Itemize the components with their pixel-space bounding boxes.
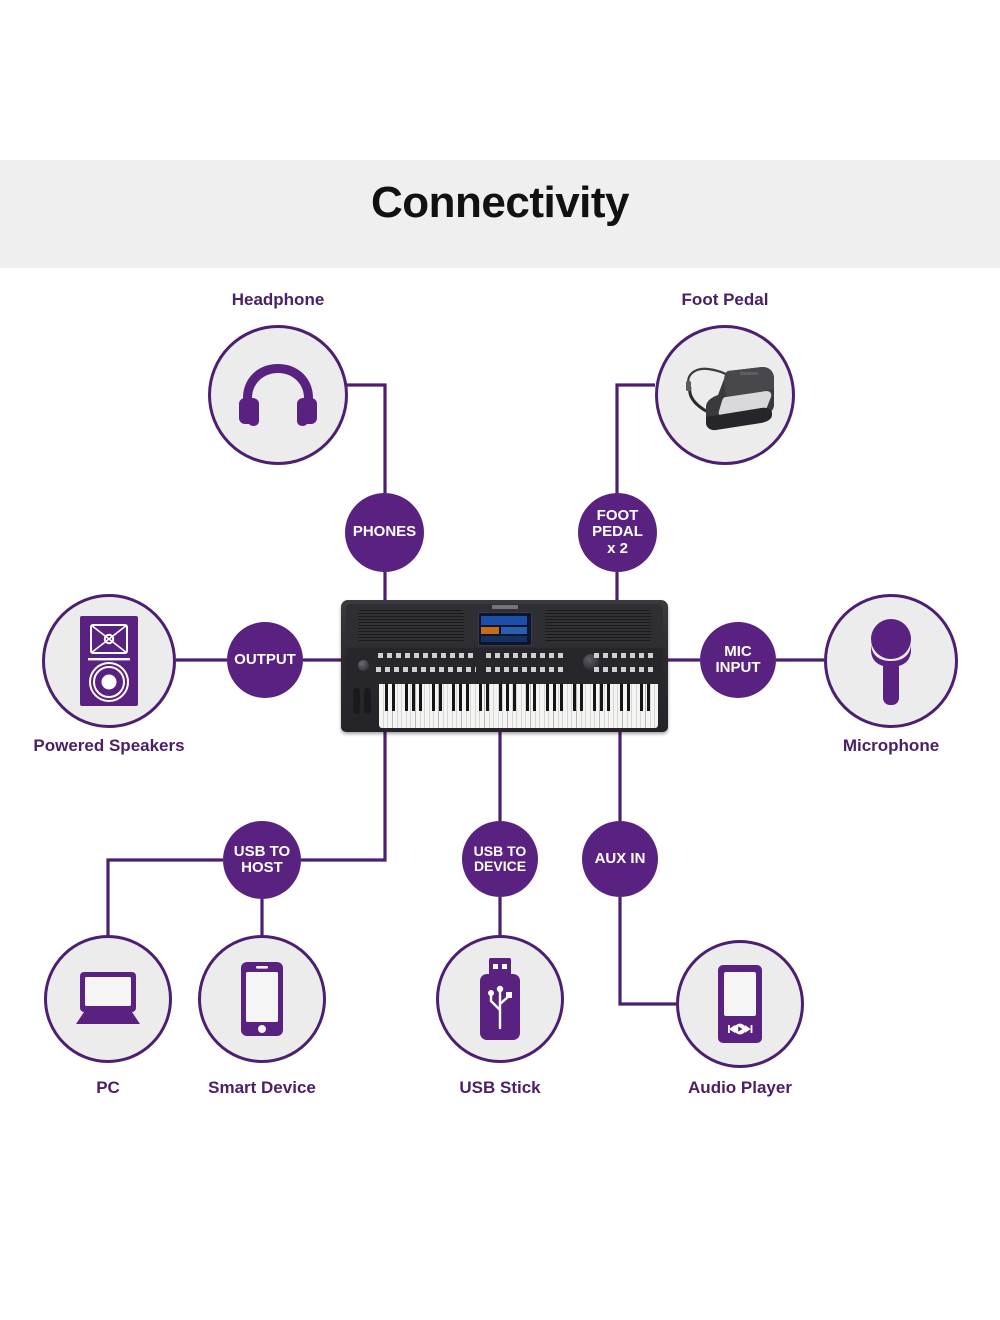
volume-knob[interactable] (358, 660, 369, 671)
port-phones[interactable]: PHONES (345, 493, 424, 572)
button-row-lower-left[interactable] (376, 667, 476, 672)
device-pc[interactable] (44, 935, 172, 1063)
device-label-audio-player: Audio Player (640, 1078, 840, 1098)
device-headphone[interactable] (208, 325, 348, 465)
keyboard-top-panel (346, 604, 663, 646)
device-microphone[interactable] (824, 594, 958, 728)
foot-pedal-icon (666, 345, 784, 445)
device-label-microphone: Microphone (791, 736, 991, 756)
port-label-aux-in: AUX IN (593, 851, 648, 867)
device-label-foot-pedal: Foot Pedal (625, 290, 825, 310)
black-keys (379, 684, 658, 711)
port-label-foot-pedal-l2: PEDAL (590, 524, 645, 540)
device-label-headphone: Headphone (178, 290, 378, 310)
wire-auxin-audioplayer (620, 897, 676, 1004)
pitch-mod-wheels[interactable] (353, 688, 373, 714)
connectivity-diagram: Connectivity (0, 0, 1000, 1320)
device-label-smart-device: Smart Device (162, 1078, 362, 1098)
digital-keyboard[interactable] (341, 600, 668, 732)
port-label-output: OUTPUT (232, 652, 298, 668)
port-label-usb-host-l1: USB TO (232, 844, 292, 860)
device-usb-stick[interactable] (436, 935, 564, 1063)
port-label-foot-pedal-l3: x 2 (605, 541, 630, 557)
device-label-usb-stick: USB Stick (400, 1078, 600, 1098)
port-foot-pedal[interactable]: FOOT PEDAL x 2 (578, 493, 657, 572)
wire-headphone-phones (347, 385, 385, 493)
audio-player-icon (716, 963, 764, 1045)
port-label-usb-host-l2: HOST (239, 860, 285, 876)
wire-keyboard-usbhost (301, 732, 385, 860)
port-usb-to-device[interactable]: USB TO DEVICE (462, 821, 538, 897)
button-row-upper-mid[interactable] (486, 653, 564, 658)
yamaha-logo (492, 605, 518, 609)
keyboard-keys[interactable] (379, 684, 658, 728)
port-label-usb-device-l2: DEVICE (472, 859, 528, 874)
keyboard-control-panel[interactable] (346, 648, 663, 682)
wire-usbhost-pc (108, 860, 223, 935)
device-powered-speakers[interactable] (42, 594, 176, 728)
port-aux-in[interactable]: AUX IN (582, 821, 658, 897)
device-foot-pedal[interactable] (655, 325, 795, 465)
port-usb-to-host[interactable]: USB TO HOST (223, 821, 301, 899)
laptop-icon (70, 970, 146, 1028)
button-row-upper-right[interactable] (594, 653, 654, 658)
headphone-icon (235, 358, 321, 432)
port-label-usb-device-l1: USB TO (472, 844, 529, 859)
button-row-upper-left[interactable] (378, 653, 474, 658)
button-row-lower-right[interactable] (594, 667, 654, 672)
speaker-icon (78, 614, 140, 708)
microphone-icon (859, 613, 923, 709)
device-label-powered-speakers: Powered Speakers (9, 736, 209, 756)
device-smart-device[interactable] (198, 935, 326, 1063)
speaker-grille-right (545, 610, 651, 642)
smartphone-icon (239, 960, 285, 1038)
keyboard-lcd-screen[interactable] (478, 612, 532, 646)
port-label-foot-pedal-l1: FOOT (595, 508, 641, 524)
speaker-grille-left (358, 610, 464, 642)
device-audio-player[interactable] (676, 940, 804, 1068)
usb-stick-icon (475, 956, 525, 1042)
port-mic-input[interactable]: MIC INPUT (700, 622, 776, 698)
button-row-lower-mid[interactable] (486, 667, 564, 672)
port-label-phones: PHONES (351, 524, 418, 540)
port-label-mic-input-l1: MIC (722, 644, 754, 660)
port-label-mic-input-l2: INPUT (714, 660, 763, 676)
wire-footpedal-port (617, 385, 655, 493)
port-output[interactable]: OUTPUT (227, 622, 303, 698)
